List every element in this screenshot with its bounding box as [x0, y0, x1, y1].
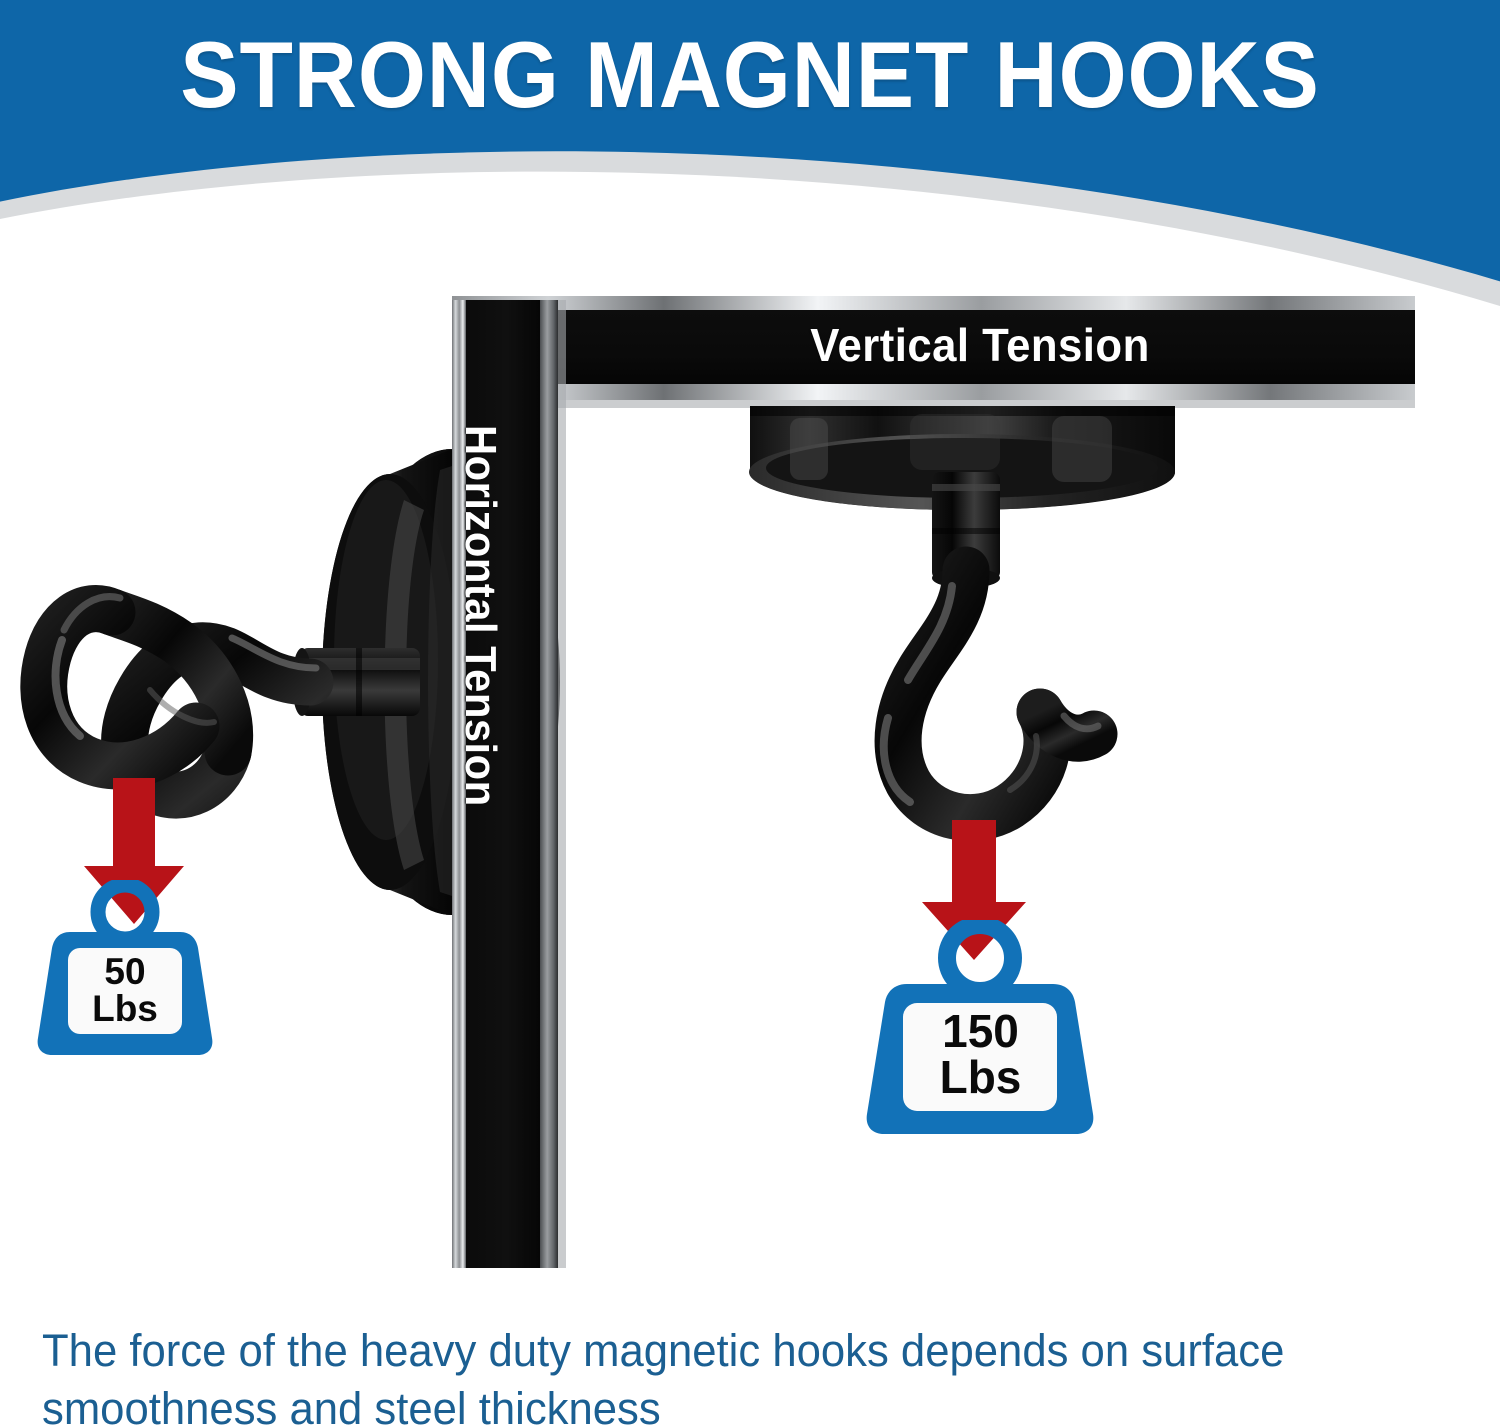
weight-left-value: 50 Lbs	[71, 953, 179, 1027]
vertical-tension-label: Vertical Tension	[714, 318, 1246, 372]
infographic-page: STRONG MAGNET HOOKS	[0, 0, 1500, 1427]
illustration-svg	[0, 0, 1500, 1310]
left-magnet-hook	[44, 597, 316, 795]
horizontal-tension-label: Horizontal Tension	[455, 425, 505, 976]
weight-badge-left: 50 Lbs	[30, 880, 220, 1060]
product-illustration: Vertical Tension Horizontal Tension 50 L…	[0, 0, 1500, 1310]
caption-text: The force of the heavy duty magnetic hoo…	[42, 1322, 1419, 1427]
weight-badge-right: 150 Lbs	[855, 920, 1105, 1140]
right-magnet-hook	[884, 570, 1098, 818]
weight-right-value: 150 Lbs	[908, 1008, 1053, 1100]
